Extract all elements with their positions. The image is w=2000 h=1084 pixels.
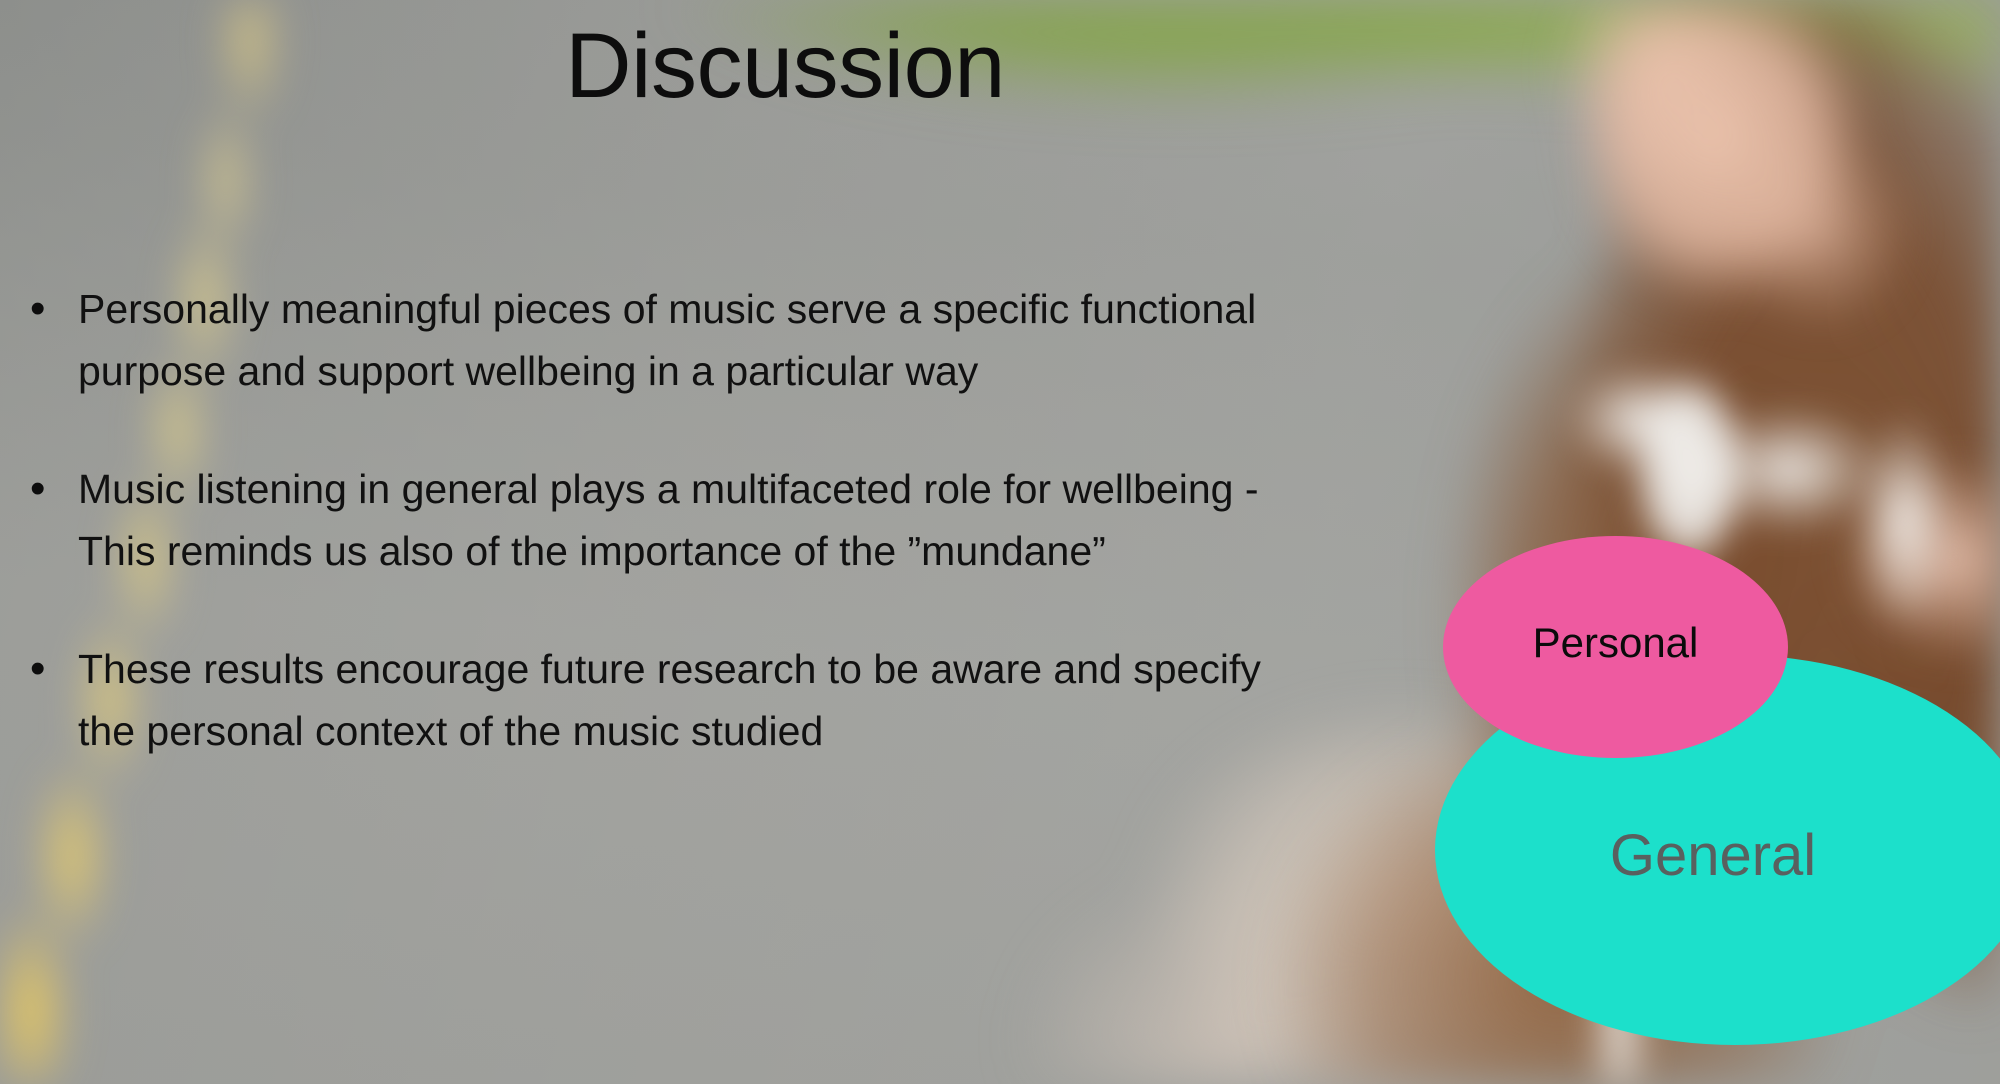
bullet-text: Personally meaningful pieces of music se… <box>78 278 1323 402</box>
callout-ellipse-personal: Personal <box>1443 536 1788 758</box>
list-item: • Music listening in general plays a mul… <box>22 458 1342 582</box>
bullet-list: • Personally meaningful pieces of music … <box>22 278 1342 762</box>
bullet-text: Music listening in general plays a multi… <box>78 458 1323 582</box>
bullet-text: These results encourage future research … <box>78 638 1323 762</box>
presentation-slide: Discussion • Personally meaningful piece… <box>0 0 2000 1084</box>
bullet-marker-icon: • <box>22 638 78 700</box>
list-item: • Personally meaningful pieces of music … <box>22 278 1342 402</box>
callout-label-personal: Personal <box>1533 622 1699 664</box>
bullet-marker-icon: • <box>22 458 78 520</box>
bullet-marker-icon: • <box>22 278 78 340</box>
callout-label-general: General <box>1610 827 1816 885</box>
list-item: • These results encourage future researc… <box>22 638 1342 762</box>
slide-title: Discussion <box>0 18 1570 115</box>
